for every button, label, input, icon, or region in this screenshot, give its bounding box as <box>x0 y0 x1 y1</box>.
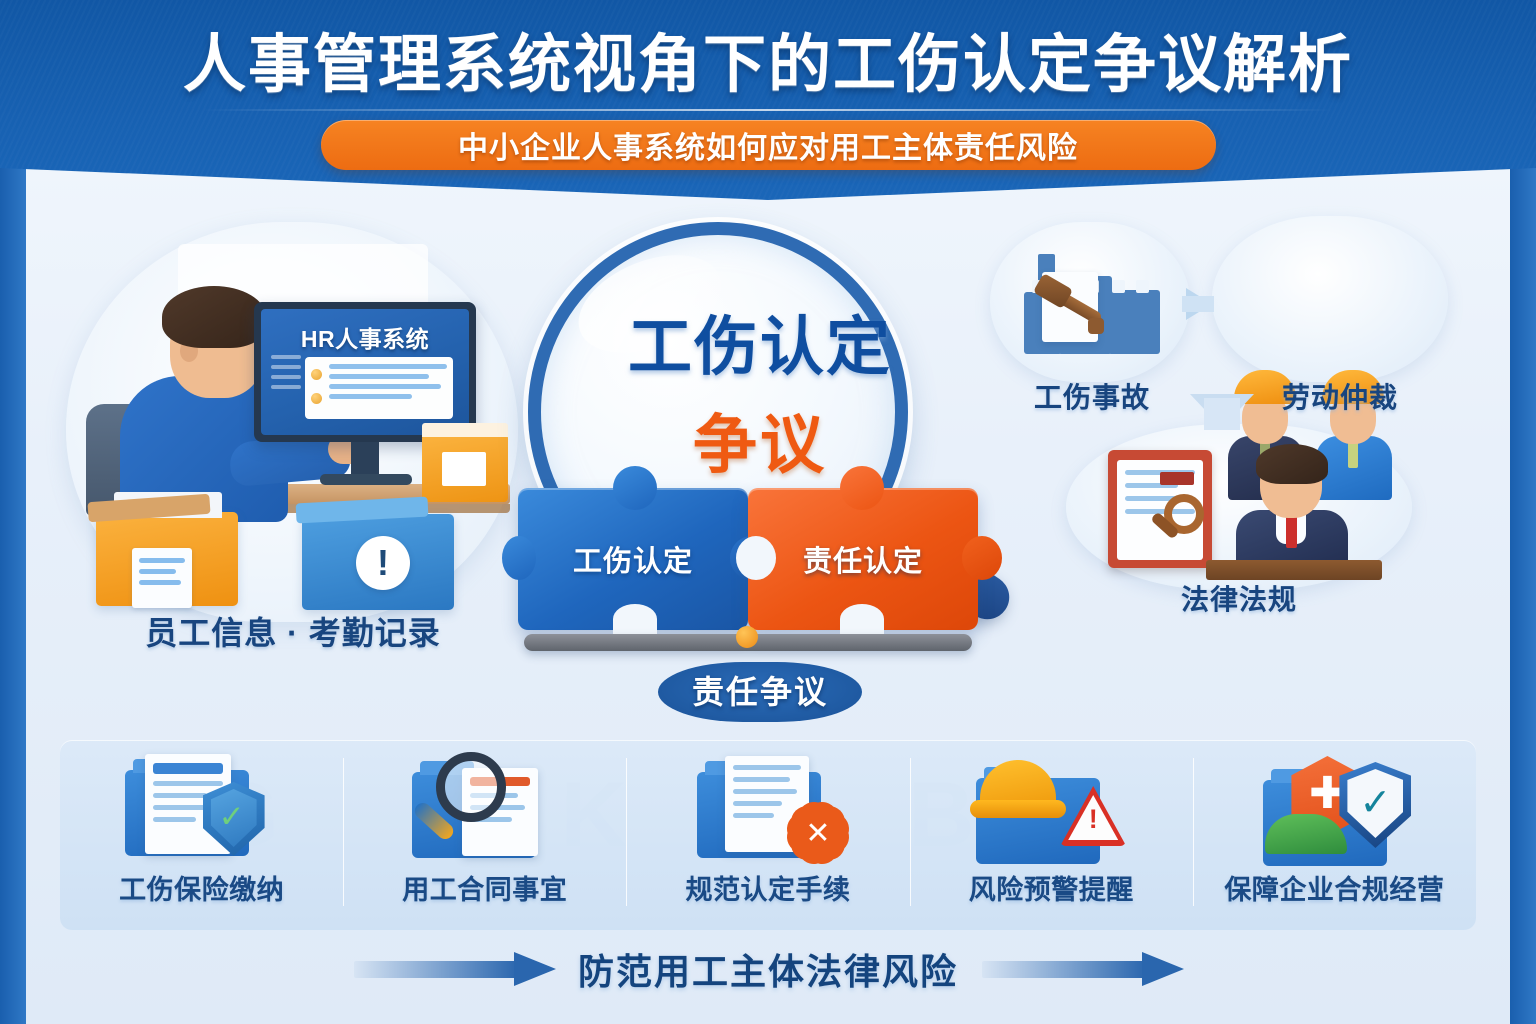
puzzle-notch <box>840 604 884 634</box>
center-magnifier-stage: 工伤认定 争议 工伤认定 责任认定 责任争议 <box>500 210 1020 750</box>
flow-arrow-right-icon <box>1186 288 1212 320</box>
subtitle-text: 中小企业人事系统如何应对用工主体责任风险 <box>458 123 1078 167</box>
measure-card-insurance[interactable]: ✓ 工伤保险缴纳 <box>60 740 343 930</box>
beam-caption-label: 责任争议 <box>658 662 862 722</box>
warning-triangle-shape: ! <box>1060 786 1126 846</box>
arrow-right-icon <box>982 956 1182 982</box>
hr-workstation-illustration: HR人事系统 <box>58 216 528 666</box>
puzzle-knob <box>962 536 1002 580</box>
puzzle-notch <box>502 536 536 580</box>
puzzle-notch <box>613 604 657 634</box>
subtitle-badge: 中小企业人事系统如何应对用工主体责任风险 <box>321 120 1216 170</box>
parcel-tape <box>422 423 508 437</box>
measure-label: 规范认定手续 <box>686 868 851 907</box>
record-avatar-icon <box>311 393 322 404</box>
workers-negotiation-icon <box>1230 240 1430 370</box>
hardhat-warning-icon: ! <box>956 748 1146 866</box>
seal-stamp-icon <box>1164 494 1204 534</box>
title-block: 人事管理系统视角下的工伤认定争议解析 中小企业人事系统如何应对用工主体责任风险 <box>0 0 1536 170</box>
shield-shape: ✓ <box>203 782 265 856</box>
lawyer-hair <box>1256 444 1328 484</box>
puzzle-knob <box>613 466 657 510</box>
lawyer-desk <box>1206 560 1382 580</box>
hardhat-shape <box>970 760 1066 822</box>
computer-monitor: HR人事系统 <box>254 302 476 442</box>
infographic-poster: 人事管理系统视角下的工伤认定争议解析 中小企业人事系统如何应对用工主体责任风险 … <box>0 0 1536 1024</box>
measures-card-list: ✓ 工伤保险缴纳 用工合同事宜 <box>60 740 1476 930</box>
magnifier-shape <box>436 752 506 822</box>
monitor-screen: HR人事系统 <box>261 309 469 435</box>
process-caption-arbitration: 劳动仲裁 <box>1224 376 1456 416</box>
puzzle-piece-left: 工伤认定 <box>518 488 748 630</box>
process-flow-illustration: 工伤事故 劳动仲裁 法律法规 <box>980 216 1460 656</box>
lens-heading-line1: 工伤认定 <box>500 296 1020 388</box>
hr-panel-caption: 员工信息 · 考勤记录 <box>58 608 528 654</box>
magnifier-folder-icon <box>390 748 580 866</box>
document-gear-icon: ✕ <box>673 748 863 866</box>
title-divider <box>203 109 1333 111</box>
hr-staff-hair <box>162 286 266 348</box>
record-avatar-icon <box>311 369 322 380</box>
puzzle-pieces-group: 工伤认定 责任认定 <box>518 488 978 638</box>
prevention-measures-band: ✓ 工伤保险缴纳 用工合同事宜 <box>60 740 1476 930</box>
document-shield-icon: ✓ <box>107 748 297 866</box>
puzzle-knob <box>840 466 884 510</box>
lens-heading-line2: 争议 <box>500 394 1020 486</box>
gavel-icon <box>1032 278 1108 344</box>
medical-shield-icon: ✚ ✓ <box>1239 748 1429 866</box>
checkmark-icon: ✓ <box>1339 784 1411 822</box>
measure-card-risk[interactable]: ! 风险预警提醒 <box>910 740 1193 930</box>
conclusion-text: 防范用工主体法律风险 <box>578 943 958 995</box>
puzzle-notch <box>736 536 776 580</box>
measure-card-contract[interactable]: 用工合同事宜 <box>343 740 626 930</box>
balance-pivot <box>736 626 758 648</box>
measure-label: 用工合同事宜 <box>402 868 567 907</box>
page-title: 人事管理系统视角下的工伤认定争议解析 <box>0 32 1536 98</box>
measure-label: 工伤保险缴纳 <box>119 868 284 907</box>
check-leaf-icon: ✓ <box>219 802 249 832</box>
archive-parcel <box>422 434 508 502</box>
hr-system-screen-title: HR人事系统 <box>261 320 469 354</box>
measure-card-procedure[interactable]: ✕ 规范认定手续 <box>626 740 909 930</box>
shield-check-shape: ✓ <box>1339 762 1411 848</box>
employee-document-icon <box>132 548 192 608</box>
lawyer-tie <box>1286 514 1297 548</box>
monitor-base <box>320 474 412 485</box>
conclusion-arrow-strip: 防范用工主体法律风险 <box>60 938 1476 1000</box>
measure-card-compliance[interactable]: ✚ ✓ 保障企业合规经营 <box>1193 740 1476 930</box>
arrow-left-icon <box>354 956 554 982</box>
employee-record-card <box>305 357 453 419</box>
measure-label: 风险预警提醒 <box>969 868 1134 907</box>
screen-sidebar-lines <box>271 355 301 395</box>
beam-caption-wrap: 责任争议 <box>500 662 1020 722</box>
puzzle-piece-right: 责任认定 <box>748 488 978 630</box>
monitor-stand <box>351 442 379 476</box>
measure-label: 保障企业合规经营 <box>1224 868 1444 907</box>
gear-reject-icon: ✕ <box>791 806 845 860</box>
alert-glyph: ! <box>377 545 389 581</box>
puzzle-left-label: 工伤认定 <box>573 538 693 580</box>
stamp-block <box>1160 472 1194 485</box>
process-caption-regulation: 法律法规 <box>1066 578 1412 618</box>
alert-exclamation-icon: ! <box>356 536 410 590</box>
legal-review-icon <box>1108 444 1388 582</box>
parcel-label <box>442 452 486 486</box>
lens-heading: 工伤认定 争议 <box>500 296 1020 486</box>
puzzle-right-label: 责任认定 <box>803 538 923 580</box>
